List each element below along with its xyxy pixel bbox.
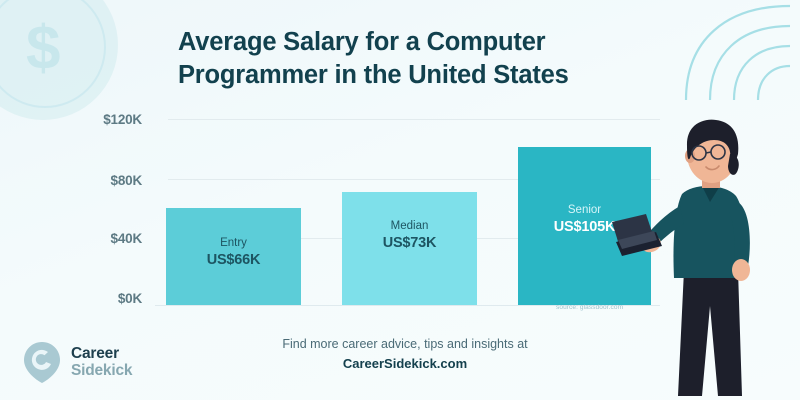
career-sidekick-logo[interactable]: Career Sidekick	[22, 340, 132, 384]
bar-median-value: US$73K	[342, 234, 477, 253]
bar-median[interactable]: Median US$73K	[342, 192, 477, 305]
logo-wordmark: Career Sidekick	[71, 345, 132, 379]
bar-median-labels: Median US$73K	[342, 219, 477, 253]
bar-median-category: Median	[342, 219, 477, 234]
y-axis-tick-120k: $120K	[72, 112, 142, 127]
person-with-laptop-illustration	[610, 110, 800, 400]
footer-cta: Find more career advice, tips and insigh…	[190, 334, 620, 373]
gridline-120k	[168, 119, 660, 120]
infographic-canvas: $ Average Salary for a Computer Programm…	[0, 0, 800, 400]
bar-entry-value: US$66K	[166, 251, 301, 270]
footer-line-1: Find more career advice, tips and insigh…	[190, 334, 620, 354]
bar-entry-category: Entry	[166, 236, 301, 251]
logo-pin-icon	[22, 340, 62, 384]
logo-word-sidekick: Sidekick	[71, 362, 132, 379]
bar-entry[interactable]: Entry US$66K	[166, 208, 301, 305]
footer-line-2[interactable]: CareerSidekick.com	[190, 354, 620, 373]
y-axis-tick-0k: $0K	[72, 291, 142, 306]
bar-entry-labels: Entry US$66K	[166, 236, 301, 270]
logo-word-career: Career	[71, 345, 132, 362]
y-axis-tick-40k: $40K	[72, 231, 142, 246]
y-axis-tick-80k: $80K	[72, 173, 142, 188]
